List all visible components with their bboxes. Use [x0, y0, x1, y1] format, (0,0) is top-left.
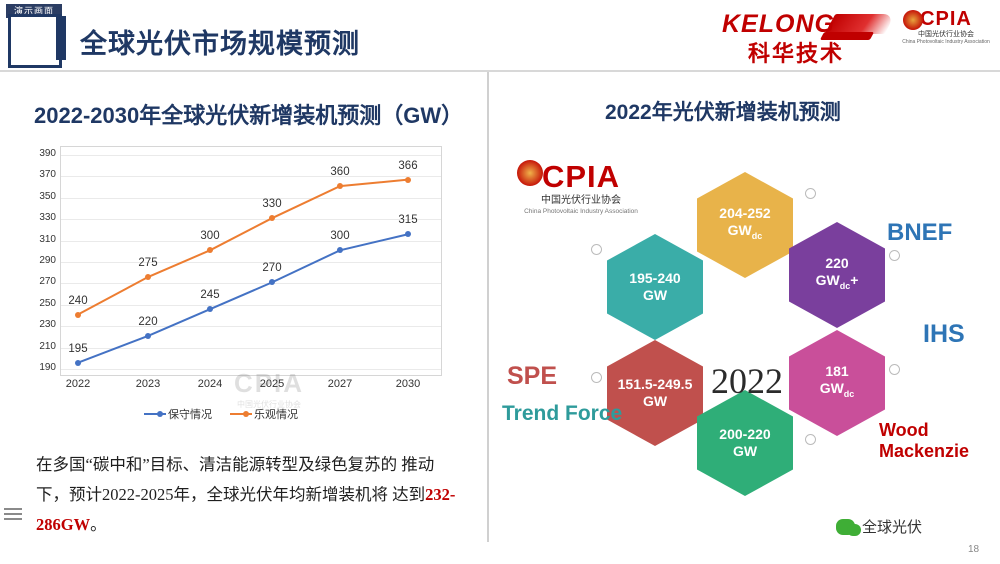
chart-value-label: 220 — [128, 316, 168, 328]
slide-header: 演示画面 全球光伏市场规模预测 KELONG 科华技术 CPIA 中国光伏行业协… — [0, 0, 1000, 72]
chart-point — [145, 333, 151, 339]
chart-y-tick-label: 270 — [24, 276, 56, 287]
hex-unit: GW — [629, 287, 680, 304]
center-year-label: 2022 — [711, 360, 783, 402]
chart-y-tick-label: 330 — [24, 212, 56, 223]
chart-y-tick-label: 210 — [24, 341, 56, 352]
chart-value-label: 315 — [388, 214, 428, 226]
chart-value-label: 330 — [252, 198, 292, 210]
legend-item-conservative: 保守情况 — [144, 406, 212, 422]
kelong-swoosh-icon — [825, 14, 896, 34]
hex-cpia: 200-220GW — [697, 390, 793, 496]
title-decoration-block — [8, 14, 62, 68]
hex-value: 204-252 — [719, 205, 770, 222]
chart-y-tick-label: 190 — [24, 362, 56, 373]
hex-spe: 195-240GW — [607, 234, 703, 340]
slide: 演示画面 全球光伏市场规模预测 KELONG 科华技术 CPIA 中国光伏行业协… — [0, 0, 1000, 564]
chart-value-label: 300 — [320, 230, 360, 242]
hex-unit: GWdc+ — [816, 272, 859, 295]
chart-point — [145, 274, 151, 280]
chart-value-label: 275 — [128, 257, 168, 269]
hex-unit: GWdc — [820, 380, 855, 403]
title-accent-bar — [56, 16, 66, 60]
chart-y-tick-label: 290 — [24, 255, 56, 266]
hex-wood-mackenzie: 181GWdc — [789, 330, 885, 436]
chart-legend: 保守情况 乐观情况 — [144, 406, 298, 422]
wechat-icon — [836, 519, 855, 535]
legend-label-optimistic: 乐观情况 — [254, 406, 298, 422]
chart-x-tick-label: 2022 — [50, 378, 106, 390]
chart-line-conservative — [78, 234, 408, 362]
sun-icon-large — [517, 160, 543, 186]
chart-y-tick-label: 230 — [24, 319, 56, 330]
kelong-logo-sub: 科华技术 — [748, 36, 844, 68]
cpia-logo-sub: 中国光伏行业协会 — [900, 30, 992, 39]
chart-y-tick-label: 250 — [24, 298, 56, 309]
chart-value-label: 195 — [58, 343, 98, 355]
left-panel-title: 2022-2030年全球光伏新增装机预测（GW） — [34, 98, 463, 130]
hex-connector-node — [591, 244, 602, 255]
page-number: 18 — [968, 544, 979, 555]
cpia-logo-sub-en: China Photovoltaic Industry Association — [900, 39, 992, 46]
brand-wood-mackenzie: Wood Mackenzie — [879, 420, 989, 462]
paragraph-line-3b: 。 — [90, 515, 107, 534]
cpia-large-sub: 中国光伏行业协会 — [511, 194, 651, 207]
cpia-logo-large: CPIA 中国光伏行业协会 China Photovoltaic Industr… — [511, 160, 651, 226]
hex-value: 200-220 — [719, 426, 770, 443]
wechat-label: 全球光伏 — [862, 516, 922, 537]
brand-trendforce: Trend Force — [502, 402, 622, 426]
hex-connector-node — [889, 250, 900, 261]
kelong-logo: KELONG 科华技术 — [718, 8, 888, 64]
chart-value-label: 360 — [320, 166, 360, 178]
chart-x-tick-label: 2023 — [120, 378, 176, 390]
brand-spe: SPE — [507, 362, 557, 391]
right-panel: 2022年光伏新增装机预测 CPIA 中国光伏行业协会 China Photov… — [489, 72, 1000, 564]
cpia-large-sub-en: China Photovoltaic Industry Association — [511, 207, 651, 216]
cpia-logo: CPIA 中国光伏行业协会 China Photovoltaic Industr… — [900, 8, 992, 66]
legend-item-optimistic: 乐观情况 — [230, 406, 298, 422]
chart-point — [75, 312, 81, 318]
chart-y-tick-label: 350 — [24, 191, 56, 202]
chart-value-label: 366 — [388, 160, 428, 172]
chart-y-tick-label: 310 — [24, 234, 56, 245]
hex-connector-node — [805, 188, 816, 199]
brand-ihs: IHS — [923, 320, 965, 349]
hex-value: 220 — [816, 255, 859, 272]
chart-value-label: 240 — [58, 295, 98, 307]
chart-series-lines — [60, 146, 440, 374]
chart-y-tick-label: 390 — [24, 148, 56, 159]
hex-trendforce: 151.5-249.5GW — [607, 340, 703, 446]
chart-value-label: 245 — [190, 289, 230, 301]
chart-x-tick-label: 2030 — [380, 378, 436, 390]
hex-connector-node — [591, 372, 602, 383]
page-title: 全球光伏市场规模预测 — [80, 22, 360, 61]
brand-bnef: BNEF — [887, 219, 952, 247]
wechat-footer: 全球光伏 — [836, 516, 922, 537]
left-paragraph: 在多国“碳中和”目标、清洁能源转型及绿色复苏的 推动下，预计2022-2025年… — [36, 450, 456, 540]
hex-bnef: 204-252GWdc — [697, 172, 793, 278]
paragraph-line-3a: 达到 — [392, 485, 425, 504]
line-chart: 190210230250270290310330350370390 202220… — [24, 138, 464, 468]
hex-value: 195-240 — [629, 270, 680, 287]
legend-point-conservative — [157, 411, 163, 417]
hex-unit: GWdc — [719, 222, 770, 245]
chart-value-label: 270 — [252, 262, 292, 274]
sun-icon — [903, 10, 923, 30]
hex-connector-node — [889, 364, 900, 375]
kelong-logo-main: KELONG — [722, 10, 835, 39]
paragraph-line-1: 在多国“碳中和”目标、清洁能源转型及绿色复苏的 — [36, 455, 397, 474]
legend-point-optimistic — [243, 411, 249, 417]
hex-value: 181 — [820, 363, 855, 380]
hex-unit: GW — [719, 443, 770, 460]
left-panel: 2022-2030年全球光伏新增装机预测（GW） 190210230250270… — [0, 72, 487, 564]
hex-value: 151.5-249.5 — [618, 376, 693, 393]
watermark-main: CPIA — [204, 368, 334, 399]
chart-point — [75, 360, 81, 366]
chart-y-tick-label: 370 — [24, 169, 56, 180]
hex-ihs: 220GWdc+ — [789, 222, 885, 328]
right-panel-title: 2022年光伏新增装机预测 — [605, 96, 841, 126]
legend-label-conservative: 保守情况 — [168, 406, 212, 422]
hex-connector-node — [805, 434, 816, 445]
hex-unit: GW — [618, 393, 693, 410]
chart-value-label: 300 — [190, 230, 230, 242]
chart-point — [405, 177, 411, 183]
